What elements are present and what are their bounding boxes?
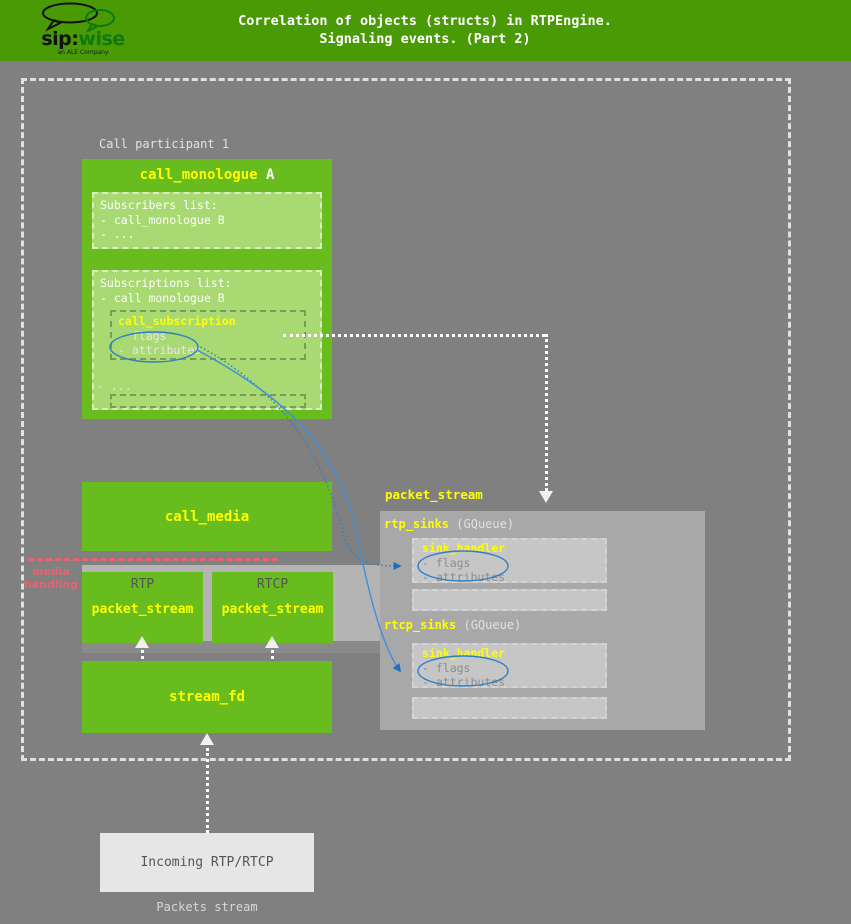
call-monologue-a-title-letter: A bbox=[258, 167, 275, 183]
packet-stream-arrow-down bbox=[539, 491, 553, 503]
incoming-to-streamfd-dots bbox=[206, 748, 209, 833]
stream-fd-box: stream_fd bbox=[82, 661, 332, 733]
logo-tagline: an ALE Company bbox=[28, 49, 138, 56]
incoming-packets-label: Incoming RTP/RTCP bbox=[100, 855, 314, 870]
rtp-sink-handler-fields: - flags - attributes bbox=[422, 556, 505, 585]
rtp-sink-placeholder-box bbox=[412, 589, 607, 611]
stream-fd-title: stream_fd bbox=[82, 689, 332, 705]
rtcp-sink-handler-fields: - flags - attributes bbox=[422, 661, 505, 690]
rtcp-sink-placeholder-box bbox=[412, 697, 607, 719]
subscription-to-packetstream-vline bbox=[545, 334, 548, 491]
page-header: sip:wise an ALE Company Correlation of o… bbox=[0, 0, 851, 61]
call-participant-label: Call participant 1 bbox=[99, 137, 229, 151]
rtcp-sinks-label: rtcp_sinks (GQueue) bbox=[384, 618, 521, 632]
rtp-sinks-type: (GQueue) bbox=[456, 517, 514, 531]
packet-stream-title: packet_stream bbox=[385, 487, 483, 502]
call-monologue-a-title-struct: call_monologue bbox=[140, 167, 258, 183]
media-handling-divider bbox=[28, 558, 278, 561]
rtcp-sink-handler-box: sink_handler - flags - attributes bbox=[412, 643, 607, 688]
call-subscription-fields: - flags - attributes bbox=[118, 329, 201, 358]
call-subscription-title: call_subscription bbox=[118, 314, 236, 328]
call-media-box: call_media bbox=[82, 482, 332, 551]
rtp-sink-handler-box: sink_handler - flags - attributes bbox=[412, 538, 607, 583]
call-subscription-box: call_subscription - flags - attributes bbox=[110, 310, 306, 360]
sipwise-logo: sip:wise an ALE Company bbox=[28, 2, 138, 60]
streamfd-to-rtcp-arrow bbox=[265, 636, 279, 648]
subscriptions-ellipsis: - ... bbox=[97, 379, 132, 393]
rtcp-kind-label: RTCP bbox=[212, 577, 333, 592]
rtp-kind-label: RTP bbox=[82, 577, 203, 592]
incoming-to-streamfd-arrow bbox=[200, 733, 214, 745]
logo-wise: wise bbox=[78, 28, 124, 50]
rtcp-struct-label: packet_stream bbox=[212, 602, 333, 617]
call-monologue-a-title: call_monologue A bbox=[82, 167, 332, 183]
rtcp-sinks-type: (GQueue) bbox=[463, 618, 521, 632]
streamfd-to-rtp-arrow bbox=[135, 636, 149, 648]
logo-sip: sip bbox=[41, 28, 71, 50]
media-handling-label: media handling bbox=[22, 565, 80, 591]
subscribers-list-panel: Subscribers list: - call_monologue B - .… bbox=[92, 192, 322, 249]
rtp-struct-label: packet_stream bbox=[82, 602, 203, 617]
packets-stream-caption: Packets stream bbox=[100, 900, 314, 914]
subscribers-list-text: Subscribers list: - call_monologue B - .… bbox=[100, 198, 225, 241]
rtp-sinks-name: rtp_sinks bbox=[384, 517, 449, 531]
incoming-packets-box: Incoming RTP/RTCP bbox=[100, 833, 314, 892]
rtcp-sinks-name: rtcp_sinks bbox=[384, 618, 456, 632]
rtcp-sink-handler-title: sink_handler bbox=[422, 646, 505, 660]
call-subscription-placeholder-box bbox=[110, 394, 306, 408]
rtp-sinks-label: rtp_sinks (GQueue) bbox=[384, 517, 514, 531]
rtcp-packet-stream-box: RTCP packet_stream bbox=[212, 572, 333, 643]
page-title: Correlation of objects (structs) in RTPE… bbox=[180, 12, 670, 48]
call-media-title: call_media bbox=[82, 509, 332, 525]
subscription-to-packetstream-hline bbox=[283, 334, 545, 337]
logo-wordmark: sip:wise bbox=[28, 30, 138, 49]
subscriptions-list-text: Subscriptions list: - call monologue B bbox=[100, 276, 232, 305]
rtp-sink-handler-title: sink_handler bbox=[422, 541, 505, 555]
rtp-packet-stream-box: RTP packet_stream bbox=[82, 572, 203, 643]
